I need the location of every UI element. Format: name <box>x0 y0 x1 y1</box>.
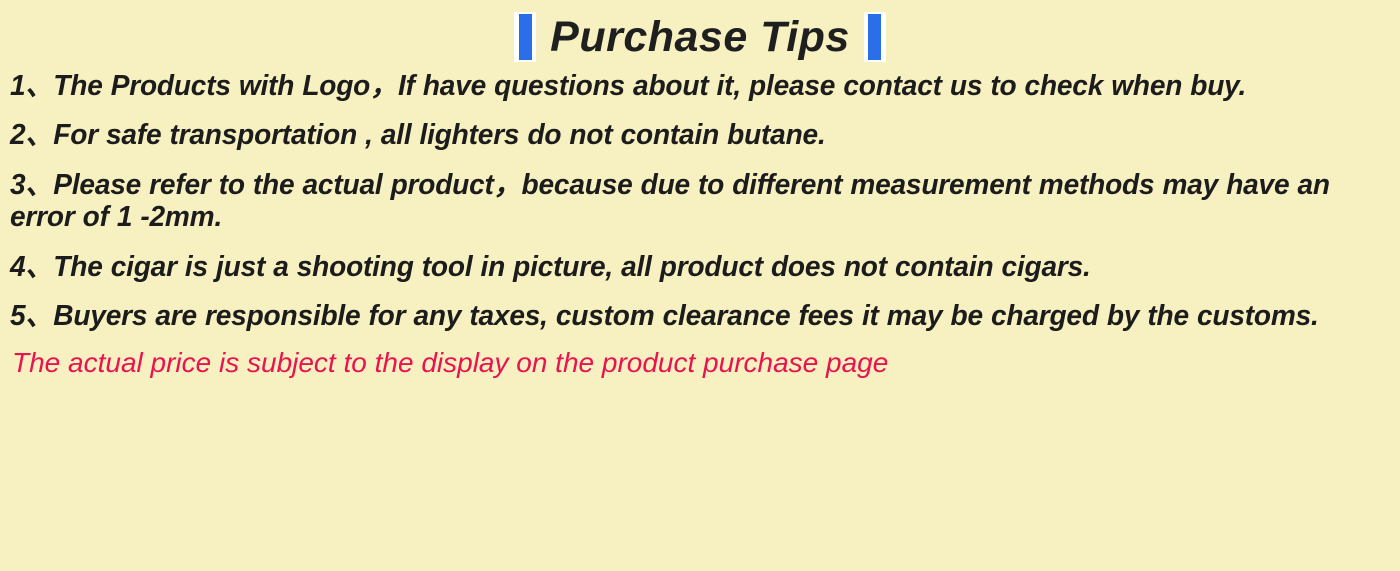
purchase-tips-panel: Purchase Tips 1、The Products with Logo，I… <box>0 0 1400 571</box>
list-item: 5、Buyers are responsible for any taxes, … <box>10 300 1373 332</box>
purchase-tips-list: 1、The Products with Logo，If have questio… <box>0 70 1400 333</box>
list-item: 4、The cigar is just a shooting tool in p… <box>10 251 1373 283</box>
title-accent-bar-right-icon <box>864 12 886 62</box>
list-item: 2、For safe transportation , all lighters… <box>10 119 1373 151</box>
list-item: 3、Please refer to the actual product，bec… <box>10 169 1373 234</box>
price-disclaimer-note: The actual price is subject to the displ… <box>0 347 1400 379</box>
title-accent-bar-left-icon <box>514 12 536 62</box>
page-title: Purchase Tips <box>550 16 850 59</box>
list-item: 1、The Products with Logo，If have questio… <box>10 70 1373 102</box>
page-title-row: Purchase Tips <box>0 0 1400 70</box>
